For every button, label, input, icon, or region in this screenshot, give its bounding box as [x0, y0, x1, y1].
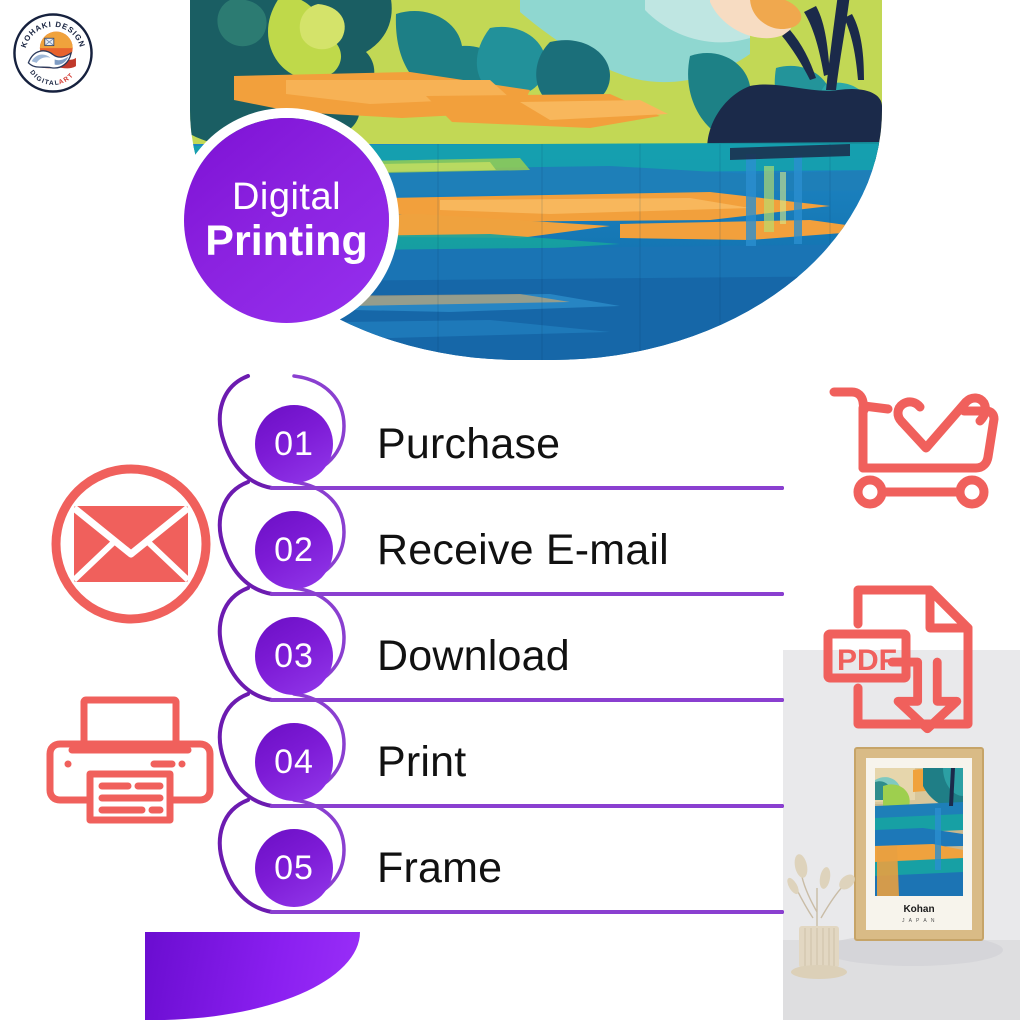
shopping-cart-check-icon — [826, 378, 1006, 510]
step-number-5: 05 — [255, 829, 333, 907]
pdf-label: PDF — [837, 644, 897, 677]
wave-mountain-logo-icon: KOHAKI DESIGN DIGITAL ART — [12, 12, 94, 94]
step-label-1: Purchase — [377, 420, 560, 469]
step-row-5[interactable]: 05 Frame — [255, 828, 955, 908]
poster-canvas: KOHAKI DESIGN DIGITAL ART — [0, 0, 1020, 1020]
step-number-2: 02 — [255, 511, 333, 589]
step-label-4: Print — [377, 738, 466, 787]
step-number-1: 01 — [255, 405, 333, 483]
step-number-3: 03 — [255, 617, 333, 695]
step-label-3: Download — [377, 632, 570, 681]
pdf-download-icon: PDF — [818, 576, 988, 742]
step-label-5: Frame — [377, 844, 502, 893]
step-label-2: Receive E-mail — [377, 526, 669, 575]
digital-printing-badge: Digital Printing — [184, 118, 389, 323]
badge-line-2: Printing — [205, 220, 367, 263]
badge-line-1: Digital — [232, 178, 341, 216]
printer-icon — [46, 694, 214, 826]
brand-logo: KOHAKI DESIGN DIGITAL ART — [12, 12, 94, 94]
envelope-circle-icon — [46, 462, 216, 626]
step-number-4: 04 — [255, 723, 333, 801]
